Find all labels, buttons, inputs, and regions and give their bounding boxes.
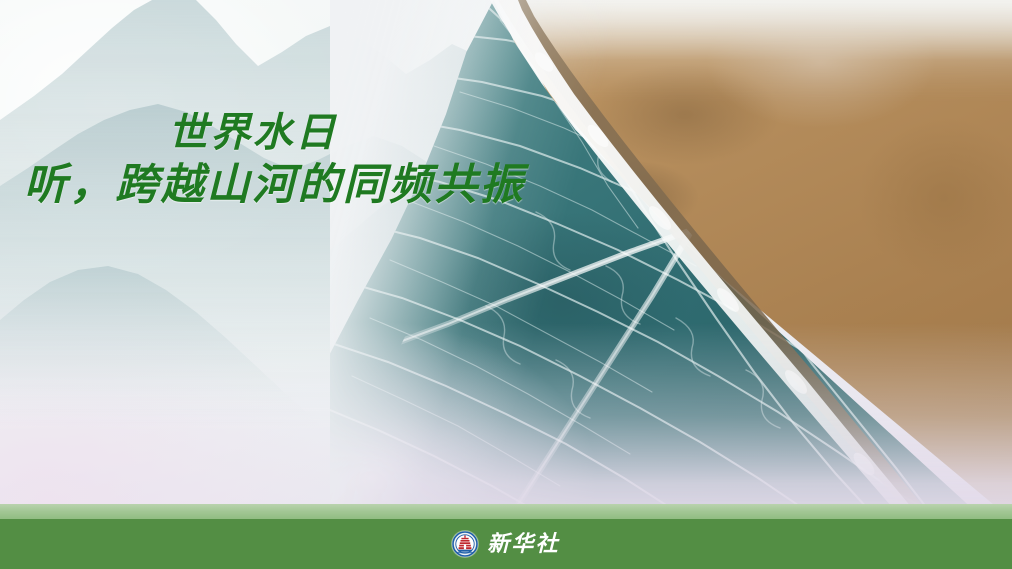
aerial-photo <box>330 0 1012 520</box>
footer-accent-strip <box>0 504 1012 520</box>
title-line-secondary: 听，跨越山河的同频共振 <box>0 160 500 210</box>
xinhua-emblem-icon <box>452 531 478 557</box>
title-line-primary: 世界水日 <box>0 110 500 156</box>
footer-brand-name: 新华社 <box>487 533 560 555</box>
slide-canvas: 世界水日 听，跨越山河的同频共振 <box>0 0 1012 569</box>
title-block: 世界水日 听，跨越山河的同频共振 <box>0 110 500 210</box>
footer-brand: 新华社 <box>0 519 1012 569</box>
photo-mist-fade <box>330 0 1012 520</box>
